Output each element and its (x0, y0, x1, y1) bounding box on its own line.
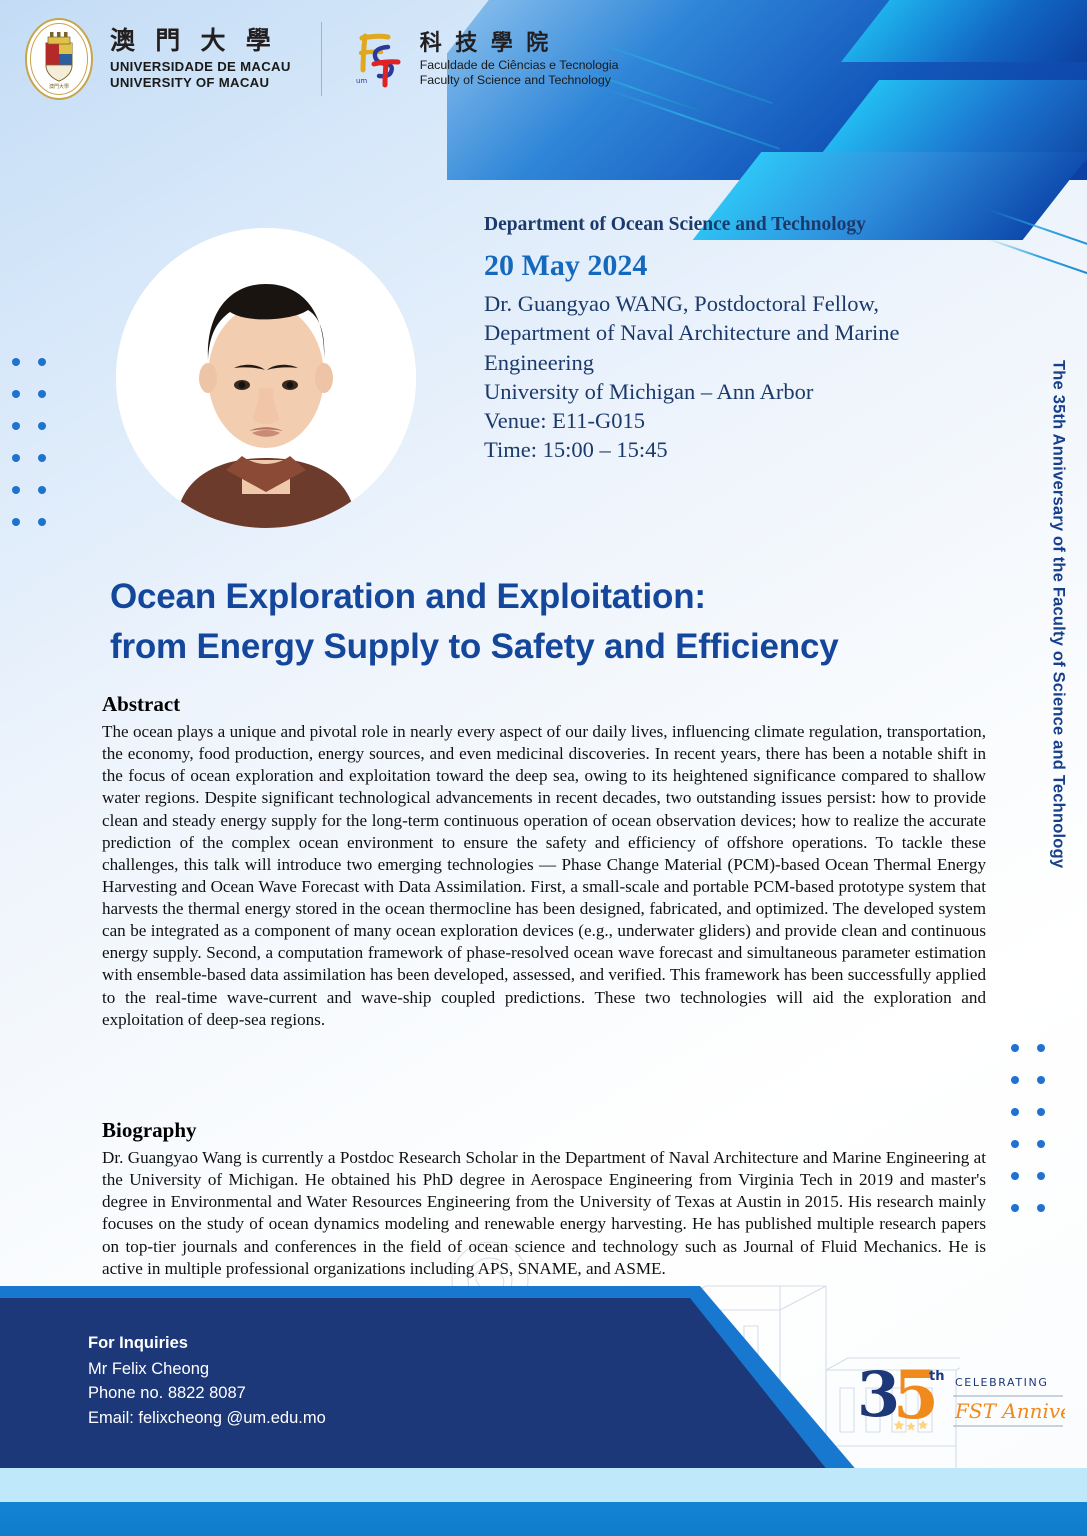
contact-phone: Phone no. 8822 8087 (88, 1381, 326, 1405)
fst-english-name: Faculty of Science and Technology (420, 74, 619, 88)
contact-name: Mr Felix Cheong (88, 1357, 326, 1381)
speaker-photo-illustration (116, 228, 416, 528)
anniversary-vertical-strip: The 35th Anniversary of the Faculty of S… (1043, 360, 1073, 1060)
um-english-name: UNIVERSITY OF MACAU (110, 76, 291, 90)
decor-parallelogram-2 (815, 80, 1087, 162)
decor-dot-grid-left (12, 358, 64, 526)
speaker-portrait (116, 228, 416, 528)
anniv-fst-anniversary: FST Anniversary (954, 1399, 1065, 1423)
svg-text:um: um (356, 77, 367, 85)
anniversary-vertical-text: The 35th Anniversary of the Faculty of S… (1049, 360, 1068, 868)
biography-section: Biography Dr. Guangyao Wang is currently… (102, 1118, 986, 1280)
department-label: Department of Ocean Science and Technolo… (484, 214, 1004, 236)
talk-title-line-2: from Energy Supply to Safety and Efficie… (110, 622, 990, 672)
inquiries-heading: For Inquiries (88, 1331, 326, 1355)
um-wordmark: 澳 門 大 學 UNIVERSIDADE DE MACAU UNIVERSITY… (110, 29, 291, 90)
fst-chinese-name: 科 技 學 院 (420, 31, 619, 55)
um-chinese-name: 澳 門 大 學 (110, 29, 291, 55)
abstract-text: The ocean plays a unique and pivotal rol… (102, 721, 986, 1031)
fst-portuguese-name: Faculdade de Ciências e Tecnologia (420, 59, 619, 73)
speaker-dept-line-2: Engineering (484, 348, 1004, 377)
abstract-heading: Abstract (102, 692, 986, 717)
um-portuguese-name: UNIVERSIDADE DE MACAU (110, 60, 291, 74)
fst-35th-anniversary-logo: 3 5 th CELEBRATING FST Anniversary (855, 1358, 1065, 1438)
talk-date: 20 May 2024 (484, 249, 1004, 283)
contact-email: Email: felixcheong @um.edu.mo (88, 1406, 326, 1430)
footer-pale-band (0, 1468, 1087, 1502)
svg-text:澳門大學: 澳門大學 (49, 83, 69, 90)
speaker-name-line: Dr. Guangyao WANG, Postdoctoral Fellow, (484, 289, 1004, 318)
talk-title: Ocean Exploration and Exploitation: from… (110, 572, 990, 671)
fst-brush-logo-icon: um (348, 26, 408, 92)
abstract-section: Abstract The ocean plays a unique and pi… (102, 692, 986, 1031)
footer-blue-band (0, 1502, 1087, 1536)
university-of-macau-crest-icon: 澳門大學 (22, 16, 96, 102)
speaker-dept-line-1: Department of Naval Architecture and Mar… (484, 318, 1004, 347)
talk-venue: Venue: E11-G015 (484, 406, 1004, 435)
fst-wordmark: 科 技 學 院 Faculdade de Ciências e Tecnolog… (420, 31, 619, 87)
talk-time: Time: 15:00 – 15:45 (484, 435, 1004, 464)
decor-dot-grid-right (1011, 1044, 1063, 1212)
seminar-poster: 澳門大學 澳 門 大 學 UNIVERSIDADE DE MACAU UNIVE… (0, 0, 1087, 1536)
anniv-ordinal: th (929, 1369, 944, 1384)
decor-parallelogram-1 (841, 0, 1087, 62)
biography-heading: Biography (102, 1118, 986, 1143)
talk-meta: Department of Ocean Science and Technolo… (484, 214, 1004, 465)
header-logos: 澳門大學 澳 門 大 學 UNIVERSIDADE DE MACAU UNIVE… (22, 16, 619, 102)
speaker-affiliation: University of Michigan – Ann Arbor (484, 377, 1004, 406)
contact-block: For Inquiries Mr Felix Cheong Phone no. … (88, 1331, 326, 1430)
biography-text: Dr. Guangyao Wang is currently a Postdoc… (102, 1147, 986, 1280)
anniv-celebrating: CELEBRATING (955, 1376, 1048, 1389)
logo-divider (321, 22, 322, 96)
talk-title-line-1: Ocean Exploration and Exploitation: (110, 572, 990, 622)
